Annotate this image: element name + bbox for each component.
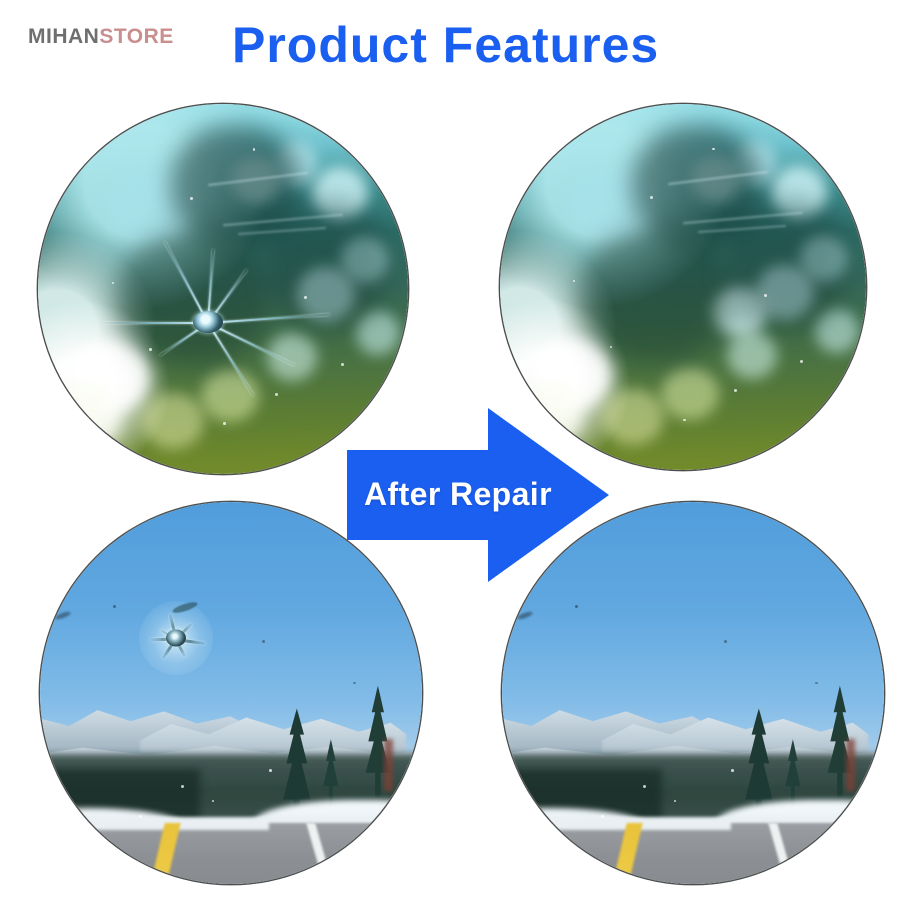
crack-star-mark <box>105 245 312 400</box>
after-repair-arrow: After Repair <box>338 396 618 592</box>
brand-logo-part-one: MIHAN <box>28 25 99 48</box>
brand-logo-part-two: STORE <box>99 25 173 48</box>
chip-damage-mark <box>139 601 213 675</box>
product-features-canvas: MIHANSTORE Product Features <box>0 0 900 900</box>
brand-logo: MIHANSTORE <box>28 26 174 47</box>
arrow-right-icon <box>338 396 618 592</box>
page-title: Product Features <box>232 18 659 72</box>
